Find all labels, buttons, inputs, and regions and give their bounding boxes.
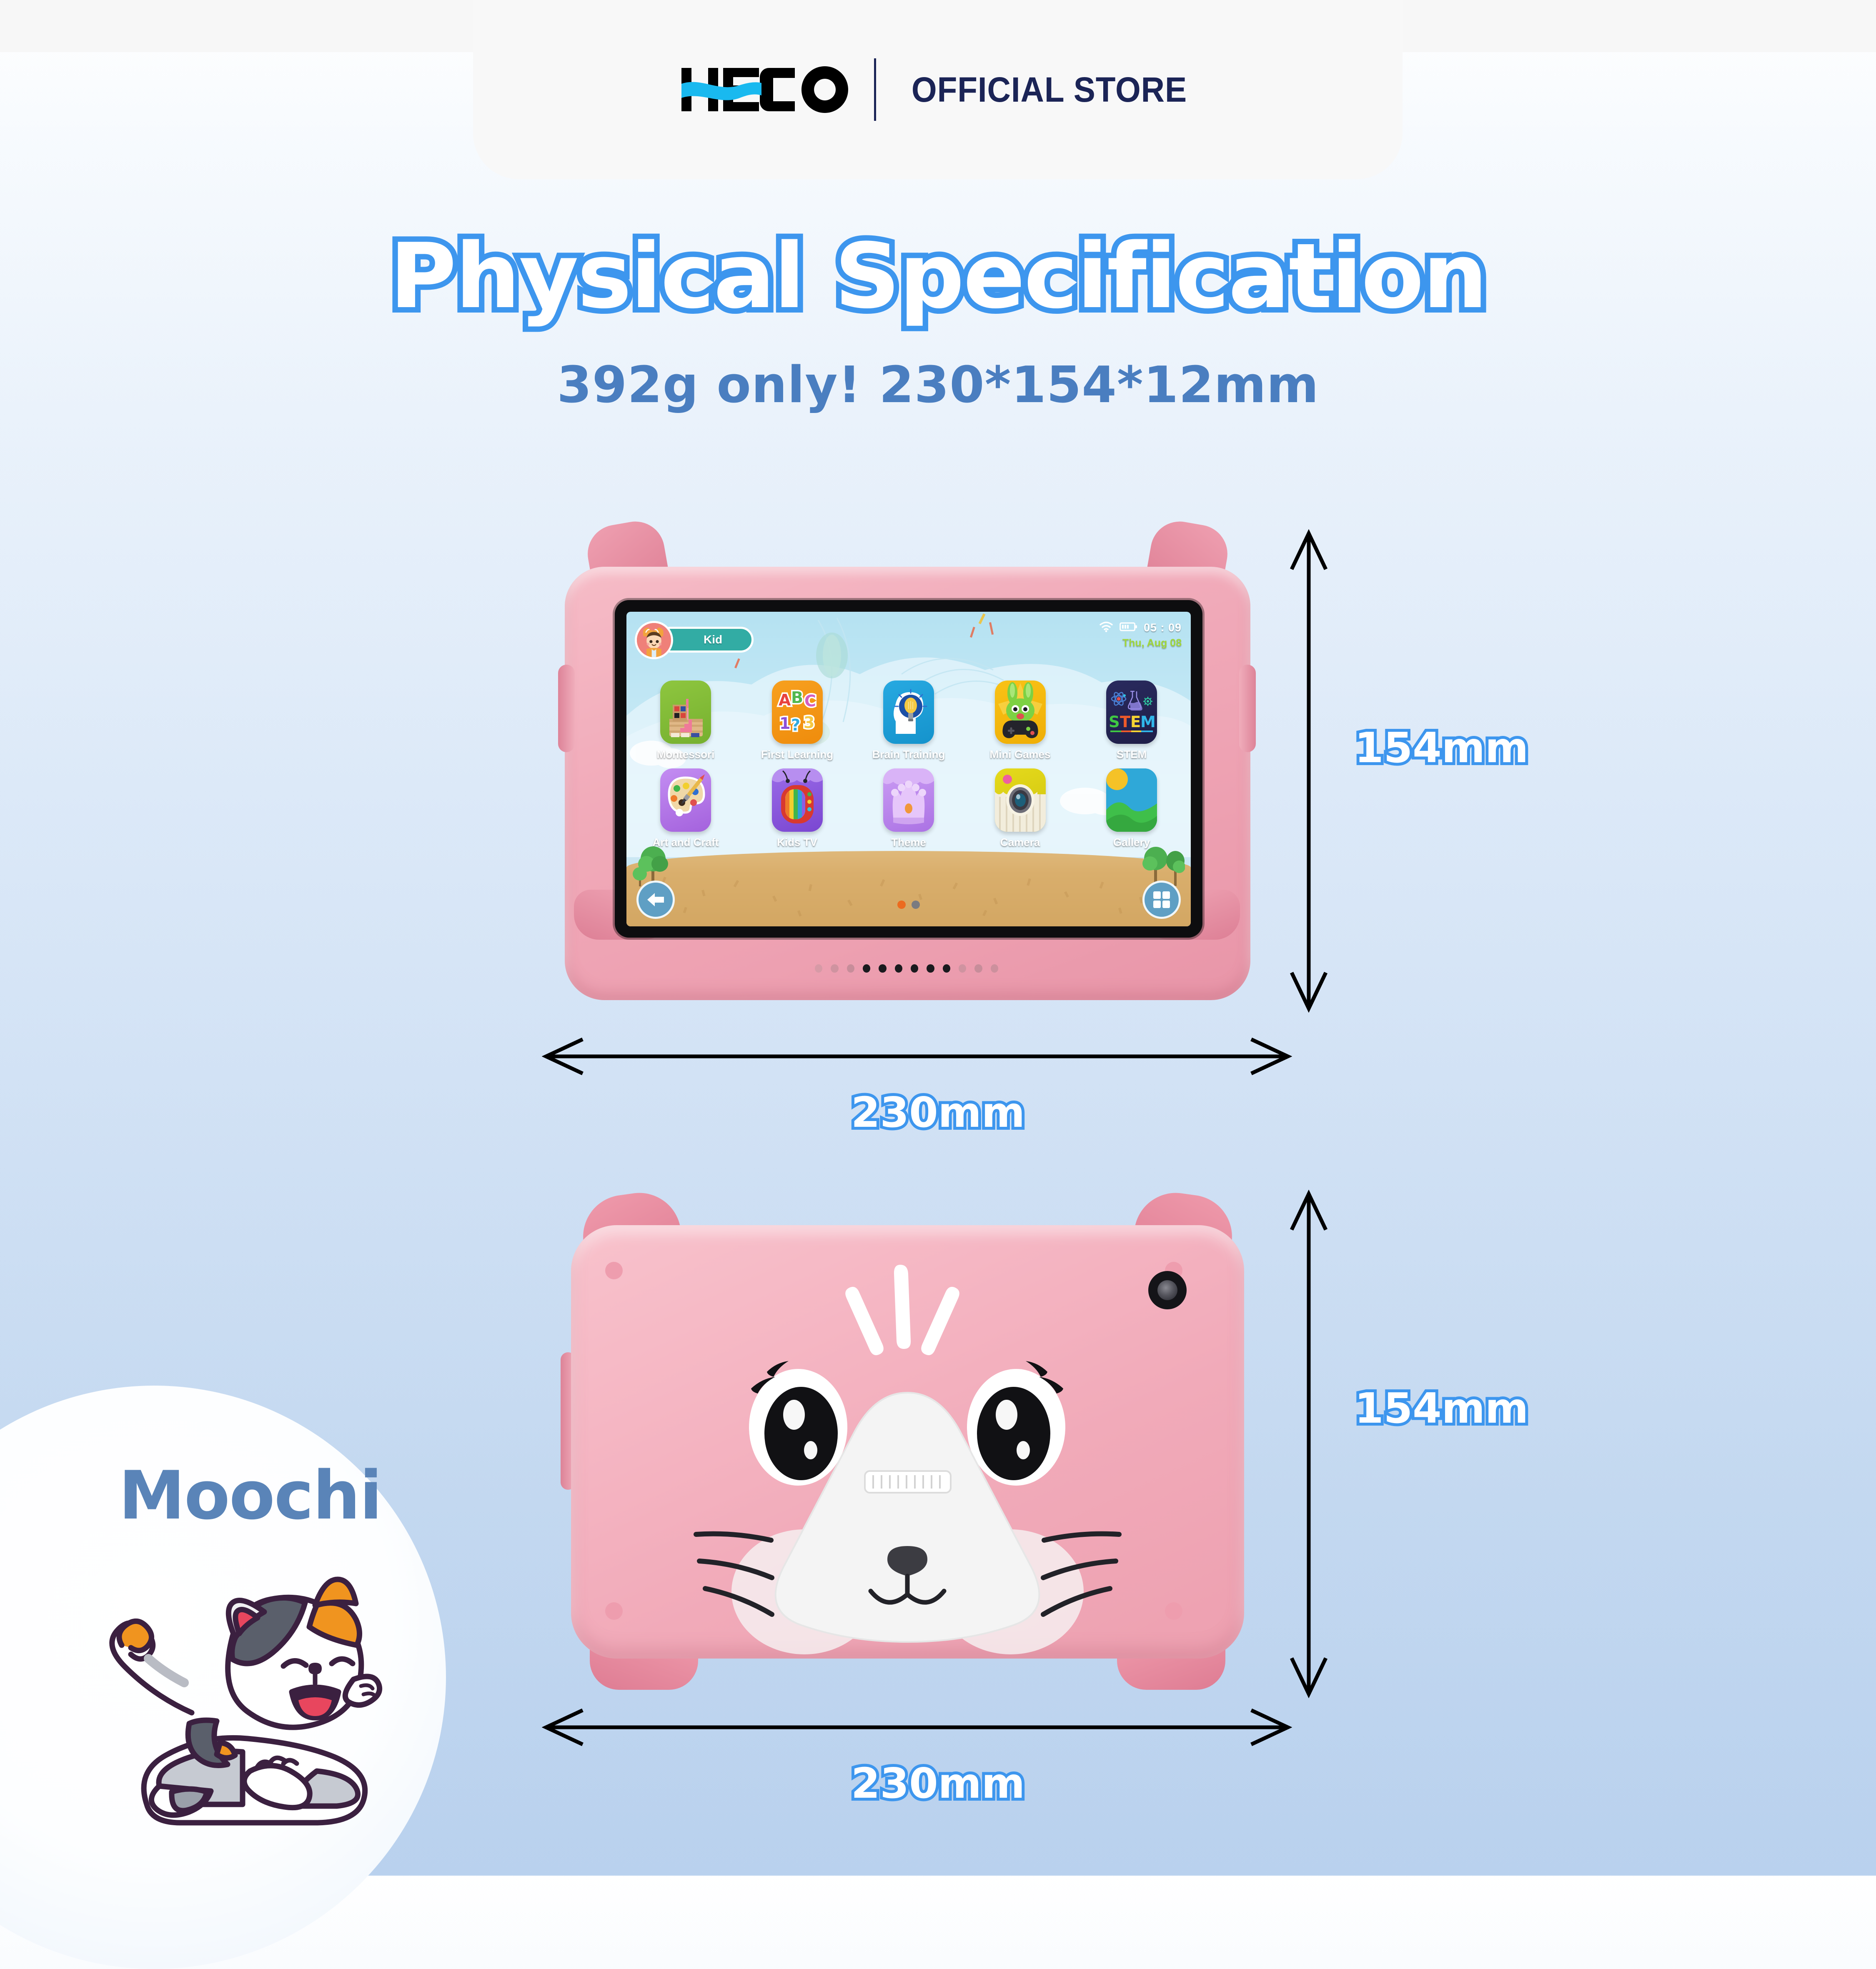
art-and-craft-icon bbox=[660, 768, 711, 832]
tablet-front-view: Kid bbox=[565, 523, 1250, 1006]
page-dot[interactable] bbox=[897, 901, 906, 909]
app-row-1: Montessori A B C 1 ? 3 bbox=[644, 681, 1173, 761]
speaker-dot bbox=[959, 964, 966, 973]
app-mini-games[interactable]: Mini Games bbox=[979, 681, 1062, 761]
status-time: 05 : 09 bbox=[1144, 621, 1182, 634]
app-label: Mini Games bbox=[990, 748, 1051, 761]
page-title: Physical Specification bbox=[0, 231, 1876, 321]
app-kids-tv[interactable]: Kids TV bbox=[756, 768, 839, 849]
kids-tv-icon bbox=[772, 768, 823, 832]
dimension-label-height-front: 154mm bbox=[1355, 727, 1528, 769]
svg-text:M: M bbox=[1140, 713, 1156, 731]
official-store-label: OFFICIAL STORE bbox=[912, 70, 1187, 110]
speaker-dot bbox=[879, 964, 886, 973]
app-theme[interactable]: Theme bbox=[867, 768, 950, 849]
app-label: Kids TV bbox=[777, 836, 817, 849]
speaker-dot bbox=[815, 964, 822, 973]
wifi-icon bbox=[1099, 621, 1114, 635]
speaker-dot bbox=[991, 964, 998, 973]
ground-texture bbox=[626, 851, 1191, 926]
first-learning-icon: A B C 1 ? 3 bbox=[772, 681, 823, 744]
app-label: Brain Training bbox=[872, 748, 945, 761]
speaker-dot bbox=[927, 964, 934, 973]
brand-header-panel: OFFICIAL STORE bbox=[473, 0, 1403, 179]
montessori-icon bbox=[660, 681, 711, 744]
app-gallery[interactable]: Gallery bbox=[1090, 768, 1173, 849]
speaker-dot bbox=[943, 964, 950, 973]
page-dot[interactable] bbox=[912, 901, 920, 909]
app-drawer-icon[interactable] bbox=[1142, 881, 1181, 919]
svg-text:?: ? bbox=[791, 716, 800, 734]
svg-text:3: 3 bbox=[804, 713, 814, 732]
page-indicator-dots[interactable] bbox=[897, 901, 920, 909]
theme-icon bbox=[883, 768, 934, 832]
svg-text:E: E bbox=[1130, 713, 1141, 731]
speaker-grille bbox=[815, 963, 998, 974]
speaker-dot bbox=[974, 964, 982, 973]
heco-logo bbox=[678, 65, 849, 115]
tree-left-decor bbox=[632, 841, 674, 886]
kid-profile-name: Kid bbox=[704, 633, 722, 646]
svg-text:A: A bbox=[779, 691, 791, 709]
app-label: Theme bbox=[891, 836, 926, 849]
speaker-dot bbox=[895, 964, 902, 973]
width-arrow-front bbox=[542, 1033, 1292, 1079]
speaker-dot bbox=[863, 964, 870, 973]
status-date: Thu, Aug 08 bbox=[1122, 637, 1182, 649]
app-row-2: Art and Craft bbox=[644, 768, 1173, 849]
app-brain-training[interactable]: Brain Training bbox=[867, 681, 950, 761]
height-arrow-front bbox=[1286, 529, 1332, 1013]
speaker-dot bbox=[831, 964, 838, 973]
battery-icon bbox=[1120, 622, 1138, 634]
stem-icon: S T E M bbox=[1106, 681, 1157, 744]
dimension-label-height-back: 154mm bbox=[1355, 1388, 1528, 1429]
camera-icon bbox=[995, 768, 1046, 832]
back-arrow-icon[interactable] bbox=[636, 881, 675, 919]
speaker-dot bbox=[847, 964, 854, 973]
app-label: Montessori bbox=[657, 748, 715, 761]
height-arrow-back bbox=[1286, 1190, 1332, 1698]
app-label: First Learning bbox=[761, 748, 833, 761]
header-divider bbox=[874, 58, 876, 121]
app-grid: Montessori A B C 1 ? 3 bbox=[644, 681, 1173, 856]
speaker-dot bbox=[911, 964, 918, 973]
app-label: STEM bbox=[1117, 748, 1147, 761]
case-grip-right bbox=[1239, 665, 1256, 752]
mini-games-icon bbox=[995, 681, 1046, 744]
tablet-back-view bbox=[565, 1194, 1250, 1690]
moochi-cat-icon bbox=[67, 1554, 429, 1846]
rear-camera-lens bbox=[1157, 1280, 1177, 1300]
mascot-name: Moochi bbox=[92, 1456, 408, 1534]
app-camera[interactable]: Camera bbox=[979, 768, 1062, 849]
page-subtitle: 392g only! 230*154*12mm bbox=[0, 356, 1876, 414]
svg-text:S: S bbox=[1109, 713, 1120, 731]
kid-avatar bbox=[635, 621, 673, 659]
cat-face-decor bbox=[571, 1225, 1244, 1659]
tree-right-decor bbox=[1139, 838, 1185, 886]
svg-text:T: T bbox=[1120, 713, 1131, 731]
svg-text:B: B bbox=[791, 688, 803, 707]
app-art-and-craft[interactable]: Art and Craft bbox=[644, 768, 727, 849]
status-bar: 05 : 09 Thu, Aug 08 bbox=[1099, 621, 1182, 649]
tablet-case-back bbox=[571, 1225, 1244, 1659]
width-arrow-back bbox=[542, 1704, 1292, 1750]
app-montessori[interactable]: Montessori bbox=[644, 681, 727, 761]
app-label: Camera bbox=[1000, 836, 1040, 849]
rear-camera-icon bbox=[1148, 1271, 1187, 1309]
svg-text:C: C bbox=[804, 692, 816, 710]
dimension-label-width-front: 230mm bbox=[0, 1092, 1876, 1133]
gallery-icon bbox=[1106, 768, 1157, 832]
tablet-screen[interactable]: Kid bbox=[626, 612, 1191, 926]
brain-training-icon bbox=[883, 681, 934, 744]
app-first-learning[interactable]: A B C 1 ? 3 First Learning bbox=[756, 681, 839, 761]
case-grip-left bbox=[558, 665, 575, 752]
svg-text:1: 1 bbox=[779, 714, 790, 733]
app-stem[interactable]: S T E M STEM bbox=[1090, 681, 1173, 761]
